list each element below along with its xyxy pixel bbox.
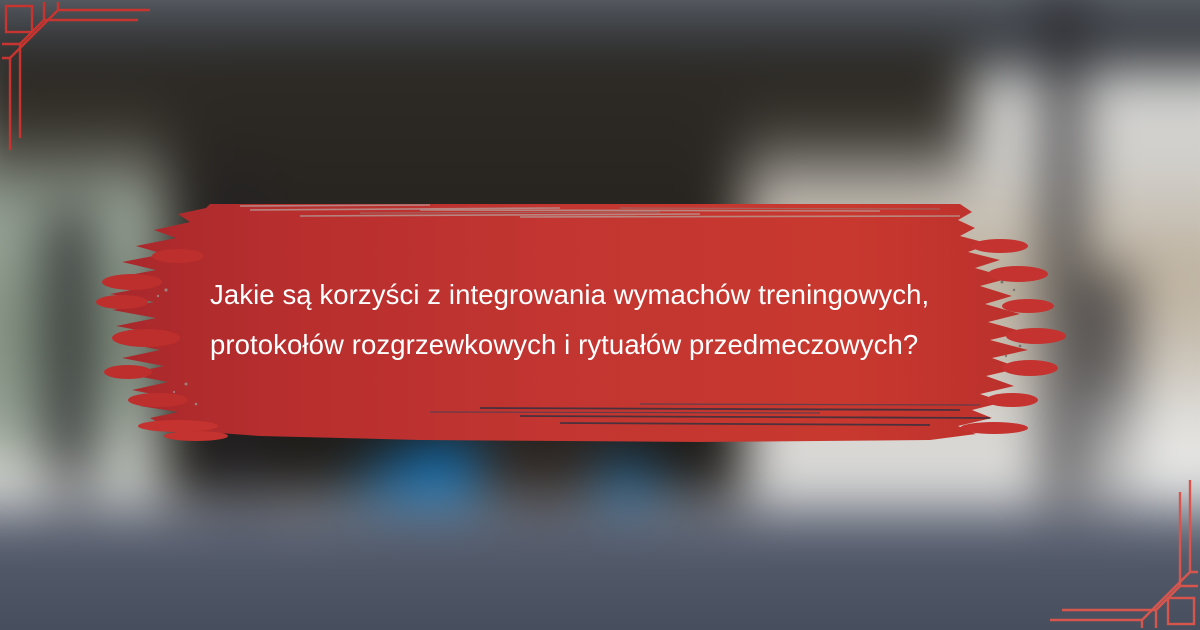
background-panel: [0, 510, 1200, 630]
headline-line-1: Jakie są korzyści z integrowania wymachó…: [210, 270, 990, 320]
headline: Jakie są korzyści z integrowania wymachó…: [0, 186, 1200, 454]
social-card: Jakie są korzyści z integrowania wymachó…: [0, 0, 1200, 630]
headline-line-2: protokołów rozgrzewkowych i rytuałów prz…: [210, 320, 990, 370]
